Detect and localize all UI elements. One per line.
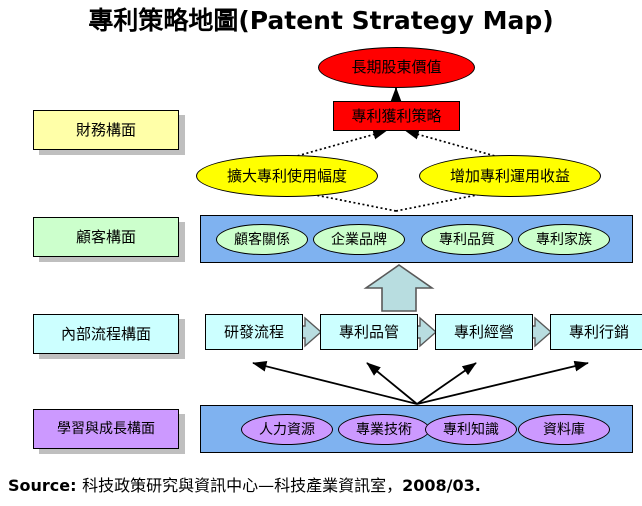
node-patent-quality[interactable]: 專利品質 [421, 224, 513, 255]
source-note: Source: 科技政策研究與資訊中心—科技產業資訊室，2008/03. [8, 472, 481, 496]
node-patent-family-label: 專利家族 [536, 233, 592, 247]
perspective-learning-growth[interactable]: 學習與成長構面 [33, 409, 179, 449]
node-customer-relationship-label: 顧客關係 [234, 233, 290, 247]
node-customer-relationship[interactable]: 顧客關係 [216, 224, 308, 255]
node-patent-marketing[interactable]: 專利行銷 [550, 314, 642, 350]
node-patent-family[interactable]: 專利家族 [518, 224, 610, 255]
node-human-resources-label: 人力資源 [259, 423, 315, 437]
node-professional-technology-label: 專業技術 [356, 423, 412, 437]
node-patent-management-label: 專利經營 [454, 325, 514, 340]
source-prefix: Source: [8, 476, 82, 495]
node-rnd-process-label: 研發流程 [224, 325, 284, 340]
node-patent-knowledge[interactable]: 專利知識 [425, 414, 517, 445]
perspective-internal-process-label: 內部流程構面 [61, 327, 151, 342]
perspective-customer[interactable]: 顧客構面 [33, 217, 179, 257]
node-long-term-shareholder-value[interactable]: 長期股東價值 [318, 47, 475, 88]
node-patent-quality-control[interactable]: 專利品管 [320, 314, 418, 350]
page-title: 專利策略地圖(Patent Strategy Map) [0, 4, 642, 38]
perspective-customer-label: 顧客構面 [76, 230, 136, 245]
node-long-term-shareholder-value-label: 長期股東價值 [351, 60, 441, 75]
node-patent-management[interactable]: 專利經營 [435, 314, 533, 350]
node-database[interactable]: 資料庫 [518, 414, 610, 445]
node-increase-patent-revenue[interactable]: 增加專利運用收益 [419, 155, 601, 197]
fan-arrows-growth-to-process [253, 363, 588, 404]
node-patent-knowledge-label: 專利知識 [443, 423, 499, 437]
perspective-internal-process[interactable]: 內部流程構面 [33, 314, 179, 354]
node-rnd-process[interactable]: 研發流程 [205, 314, 303, 350]
source-date: 2008/03. [402, 476, 481, 495]
node-expand-patent-usage-label: 擴大專利使用幅度 [227, 169, 347, 184]
node-patent-profit-strategy[interactable]: 專利獲利策略 [333, 101, 460, 131]
perspective-learning-growth-label: 學習與成長構面 [57, 422, 155, 436]
node-corporate-brand[interactable]: 企業品牌 [313, 224, 405, 255]
node-corporate-brand-label: 企業品牌 [331, 233, 387, 247]
perspective-financial-label: 財務構面 [76, 123, 136, 138]
node-database-label: 資料庫 [543, 423, 585, 437]
node-increase-patent-revenue-label: 增加專利運用收益 [450, 169, 570, 184]
node-expand-patent-usage[interactable]: 擴大專利使用幅度 [196, 155, 378, 197]
node-patent-marketing-label: 專利行銷 [569, 325, 629, 340]
perspective-financial[interactable]: 財務構面 [33, 110, 179, 150]
node-human-resources[interactable]: 人力資源 [241, 414, 333, 445]
node-patent-quality-label: 專利品質 [439, 233, 495, 247]
block-up-arrow-process-to-customer [366, 265, 432, 311]
node-professional-technology[interactable]: 專業技術 [338, 414, 430, 445]
node-patent-profit-strategy-label: 專利獲利策略 [351, 109, 441, 124]
node-patent-quality-control-label: 專利品管 [339, 325, 399, 340]
source-text: 科技政策研究與資訊中心—科技產業資訊室， [82, 476, 402, 495]
